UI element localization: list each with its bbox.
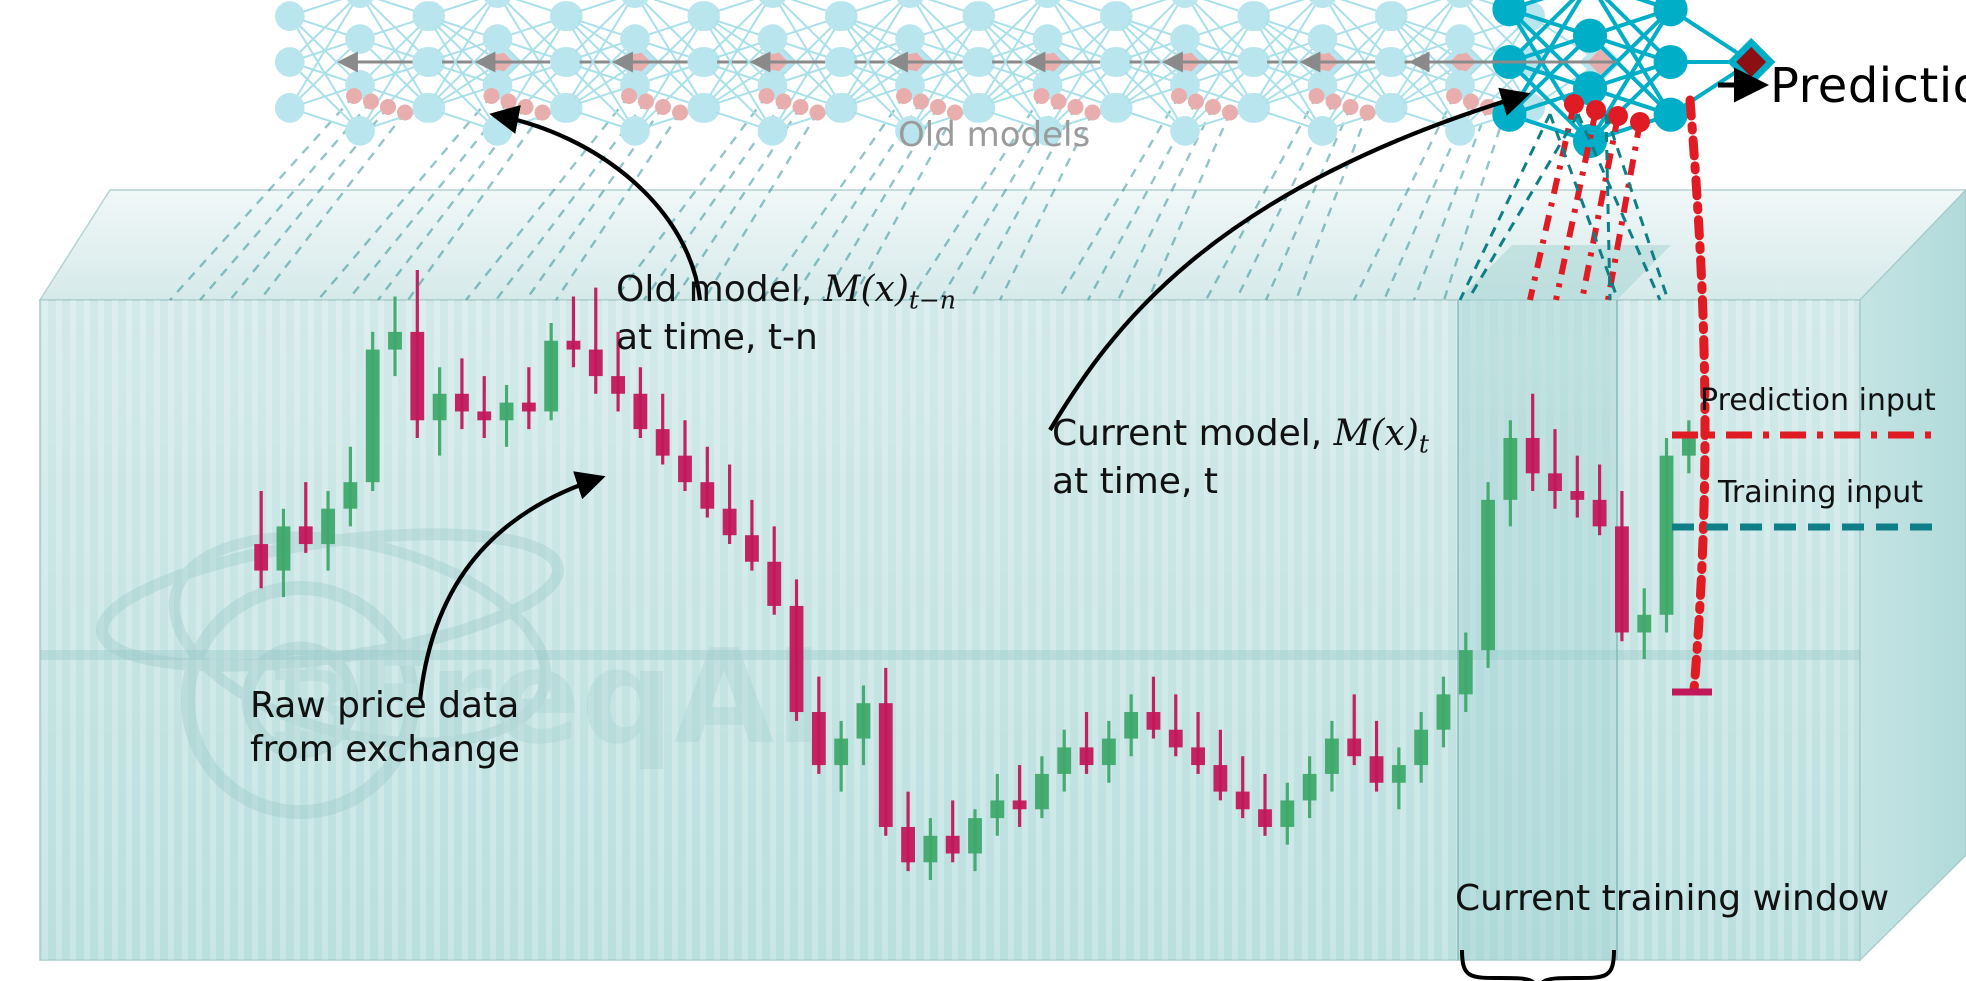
old-models-label: Old models [898,115,1090,155]
prediction-label: Prediction [1770,58,1966,114]
old-model-annotation: Old model, M(x)t−n at time, t-n [616,268,956,360]
raw-price-line1: Raw price data [250,684,520,728]
current-training-window-label: Current training window [1455,878,1889,919]
current-model-math: M(x) [1334,413,1419,454]
figure-root: FreqAI ₿ [0,0,1966,981]
old-model-text-prefix: Old model, [616,269,824,310]
raw-price-line2: from exchange [250,728,520,772]
current-model-annotation: Current model, M(x)t at time, t [1052,412,1429,504]
price-box-3d [40,190,1966,960]
legend-label-training-input: Training input [1718,475,1923,510]
current-model-time-text: at time, t [1052,460,1429,504]
raw-price-annotation: Raw price data from exchange [250,684,520,772]
current-model-subscript: t [1419,430,1429,459]
current-model-text-prefix: Current model, [1052,413,1334,454]
old-model-time-text: at time, t-n [616,316,956,360]
legend-label-prediction-input: Prediction input [1700,383,1936,418]
old-model-subscript: t−n [909,286,956,315]
old-model-math: M(x) [824,269,909,310]
